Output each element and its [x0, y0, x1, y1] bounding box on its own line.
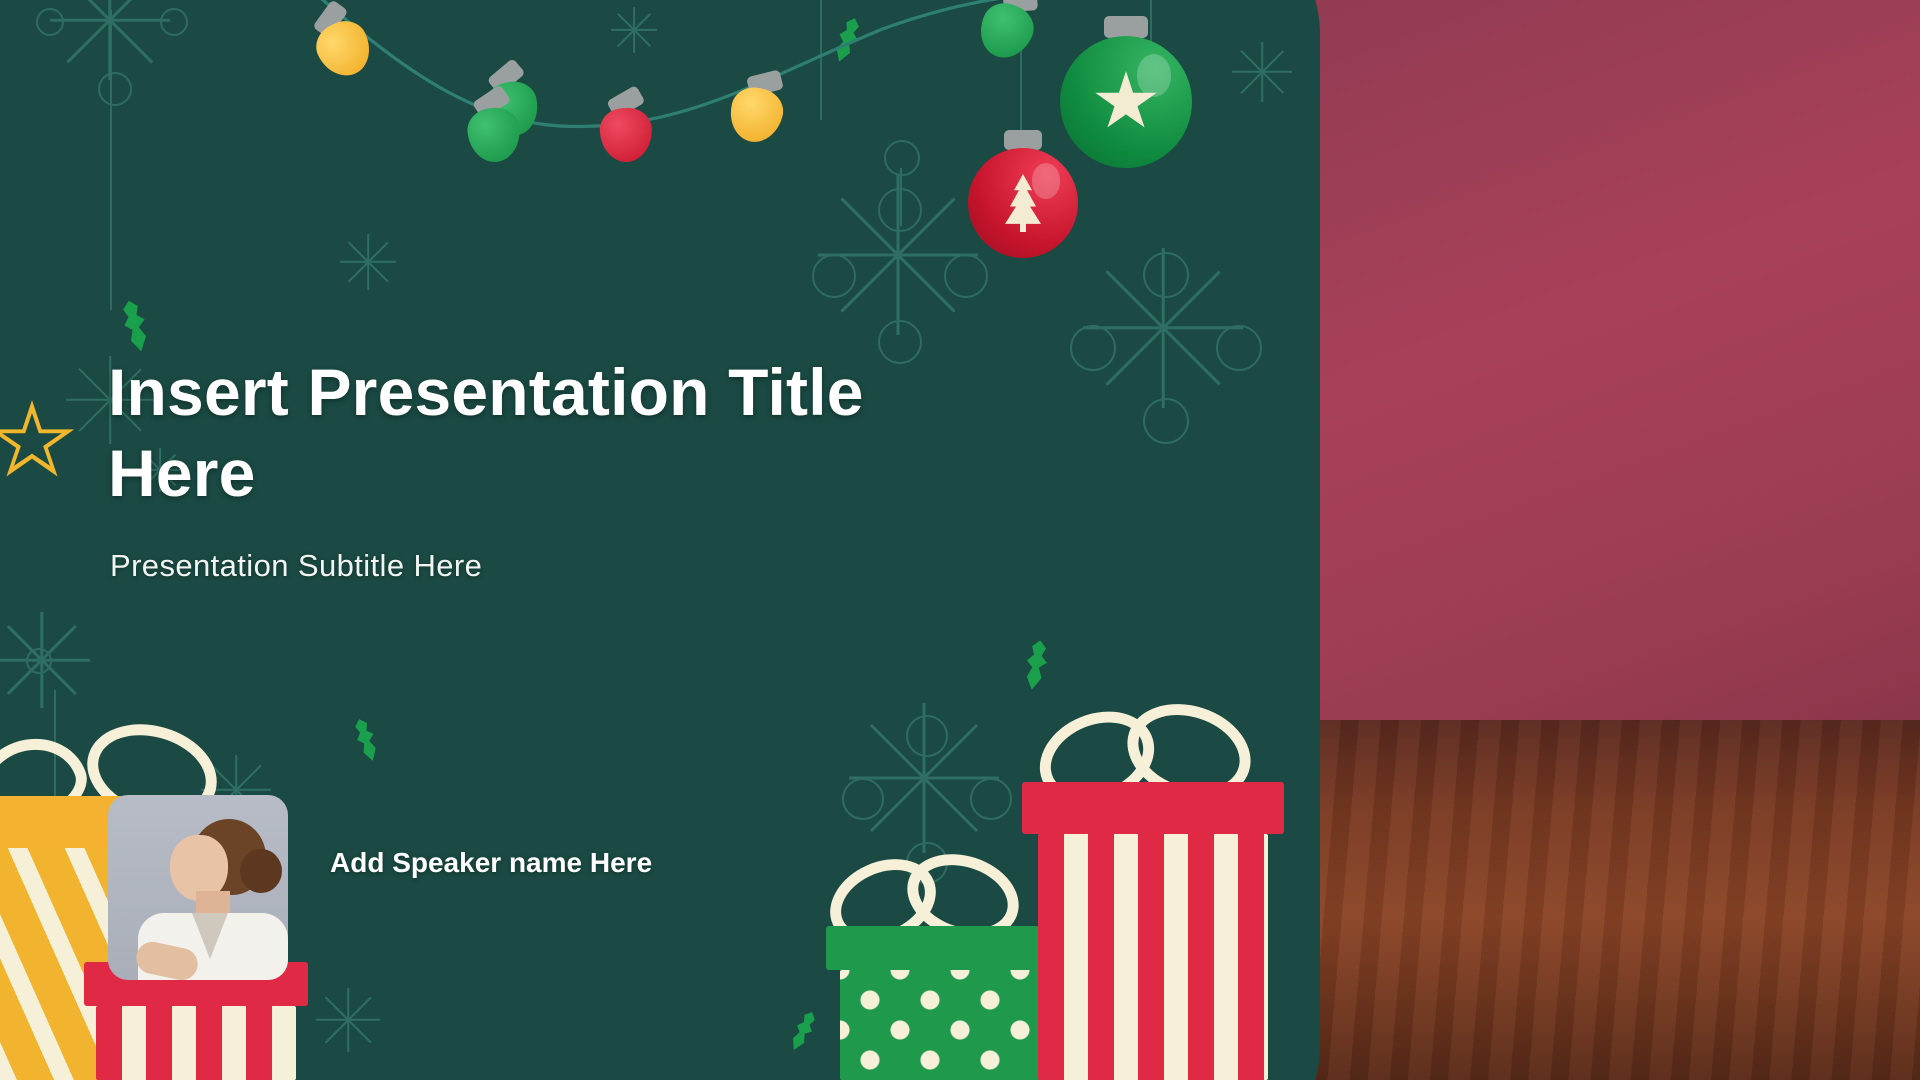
light-bulb-red-icon: [599, 107, 653, 163]
snowflake-ring: [26, 648, 52, 674]
light-bulb-green-icon-2: [465, 105, 522, 164]
holly-leaf-icon-5: [346, 715, 386, 765]
avatar-hair-bun: [240, 849, 282, 893]
speaker-photo-placeholder[interactable]: [108, 795, 288, 980]
page-subtitle: Presentation Subtitle Here: [110, 548, 870, 584]
gift-body: [96, 1006, 296, 1080]
speaker-name-label: Add Speaker name Here: [330, 845, 660, 880]
gift-lid: [1022, 782, 1284, 834]
gold-star-outline-icon: [0, 400, 76, 484]
gift-lid: [826, 926, 1056, 970]
gift-body: [1038, 834, 1268, 1080]
gift-body: [840, 970, 1044, 1080]
holly-leaf-icon-1: [112, 297, 158, 356]
bauble-green-star: [1060, 16, 1192, 168]
presentation-slide: Insert Presentation Title Here Presentat…: [0, 0, 1920, 1080]
page-title: Insert Presentation Title Here: [108, 352, 988, 513]
string-lights-garland: [0, 0, 1100, 200]
holly-leaf-icon-6: [782, 1006, 824, 1055]
bauble-red-tree: [968, 130, 1078, 258]
